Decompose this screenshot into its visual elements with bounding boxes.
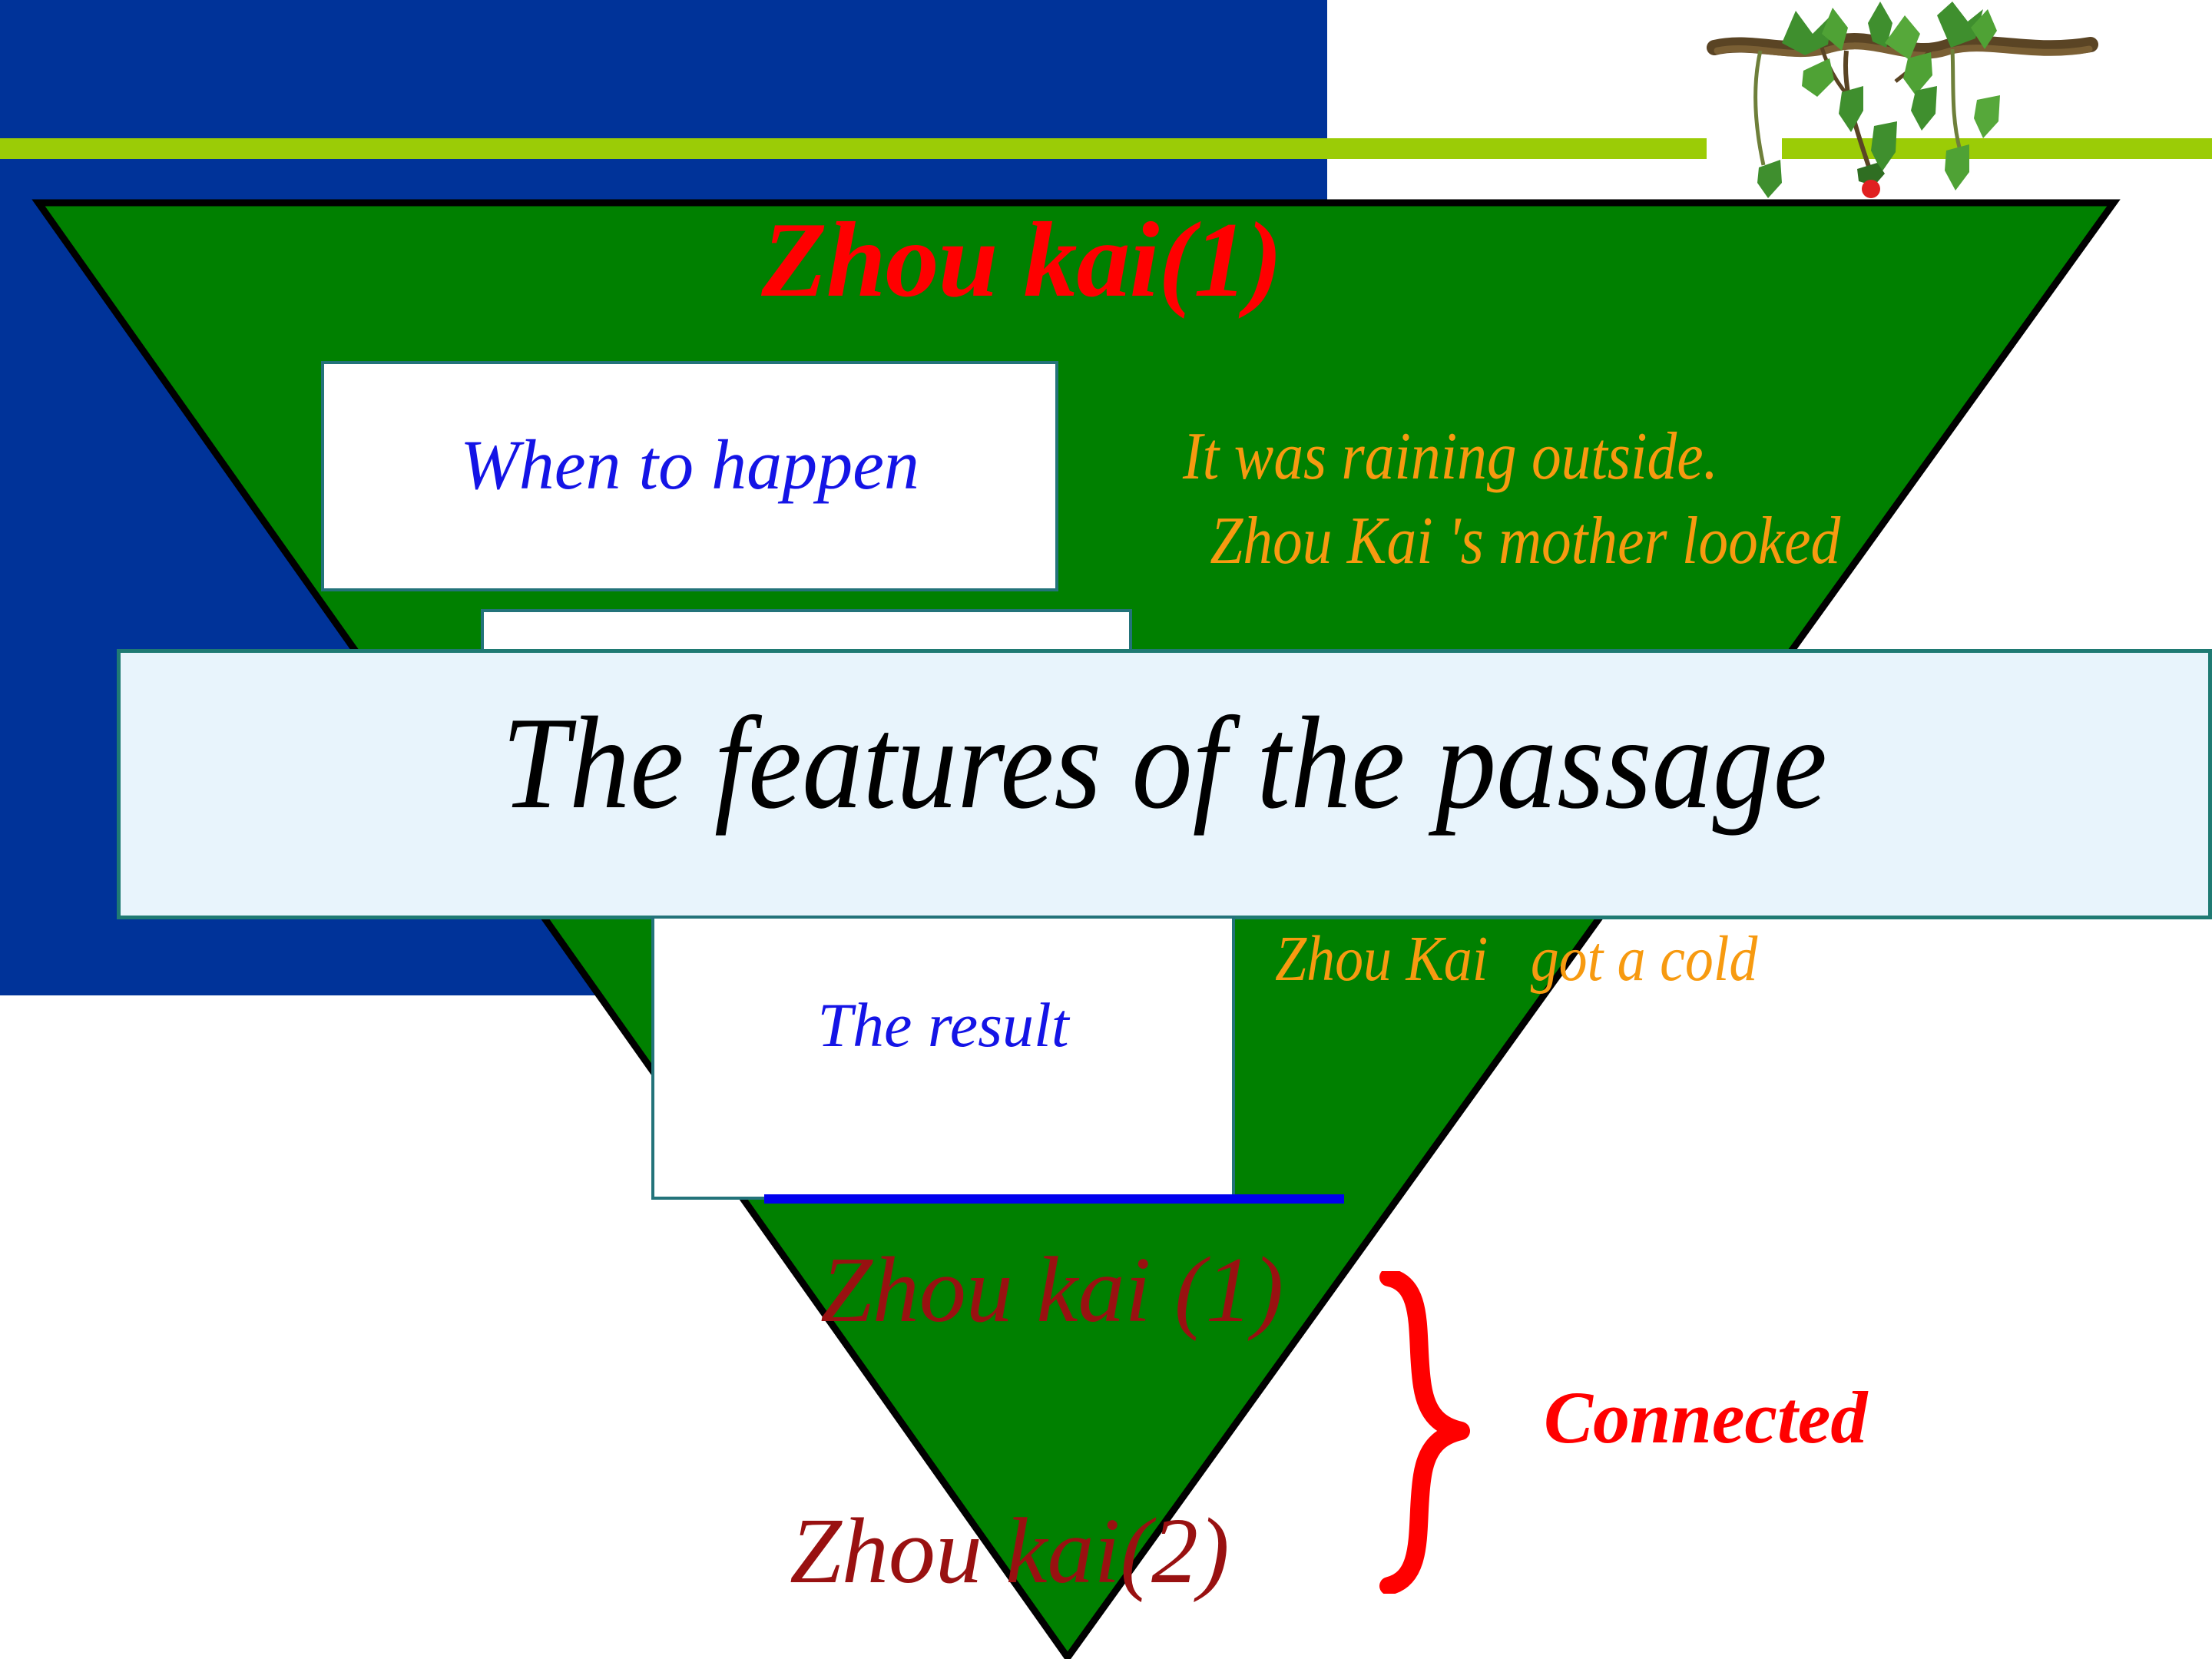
features-banner: The features of the passage [117, 649, 2212, 919]
page-title: Zhou kai(1) [538, 201, 1505, 320]
when-to-happen-box: When to happen [321, 361, 1058, 591]
the-result-box: The result [651, 916, 1235, 1200]
connected-label: Connected [1544, 1375, 1867, 1460]
passage-text-block: It was raining outside. Zhou Kai 's moth… [1183, 415, 2088, 584]
the-result-label: The result [654, 989, 1232, 1061]
when-to-happen-label: When to happen [324, 424, 1055, 505]
footer-item-zhou-kai-2: Zhou kai(2) [790, 1498, 1230, 1605]
result-text: Zhou Kai got a cold [1275, 922, 1757, 996]
passage-line-2: Zhou Kai 's mother looked [1183, 499, 2088, 584]
footer-item-zhou-kai-1: Zhou kai (1) [820, 1237, 1283, 1344]
blue-divider-rule [764, 1194, 1344, 1204]
slide-canvas: Zhou kai(1) When to happen It was rainin… [0, 0, 2212, 1659]
features-banner-heading: The features of the passage [204, 697, 2125, 829]
red-curly-brace-icon [1375, 1271, 1482, 1594]
passage-line-1: It was raining outside. [1183, 415, 2088, 499]
